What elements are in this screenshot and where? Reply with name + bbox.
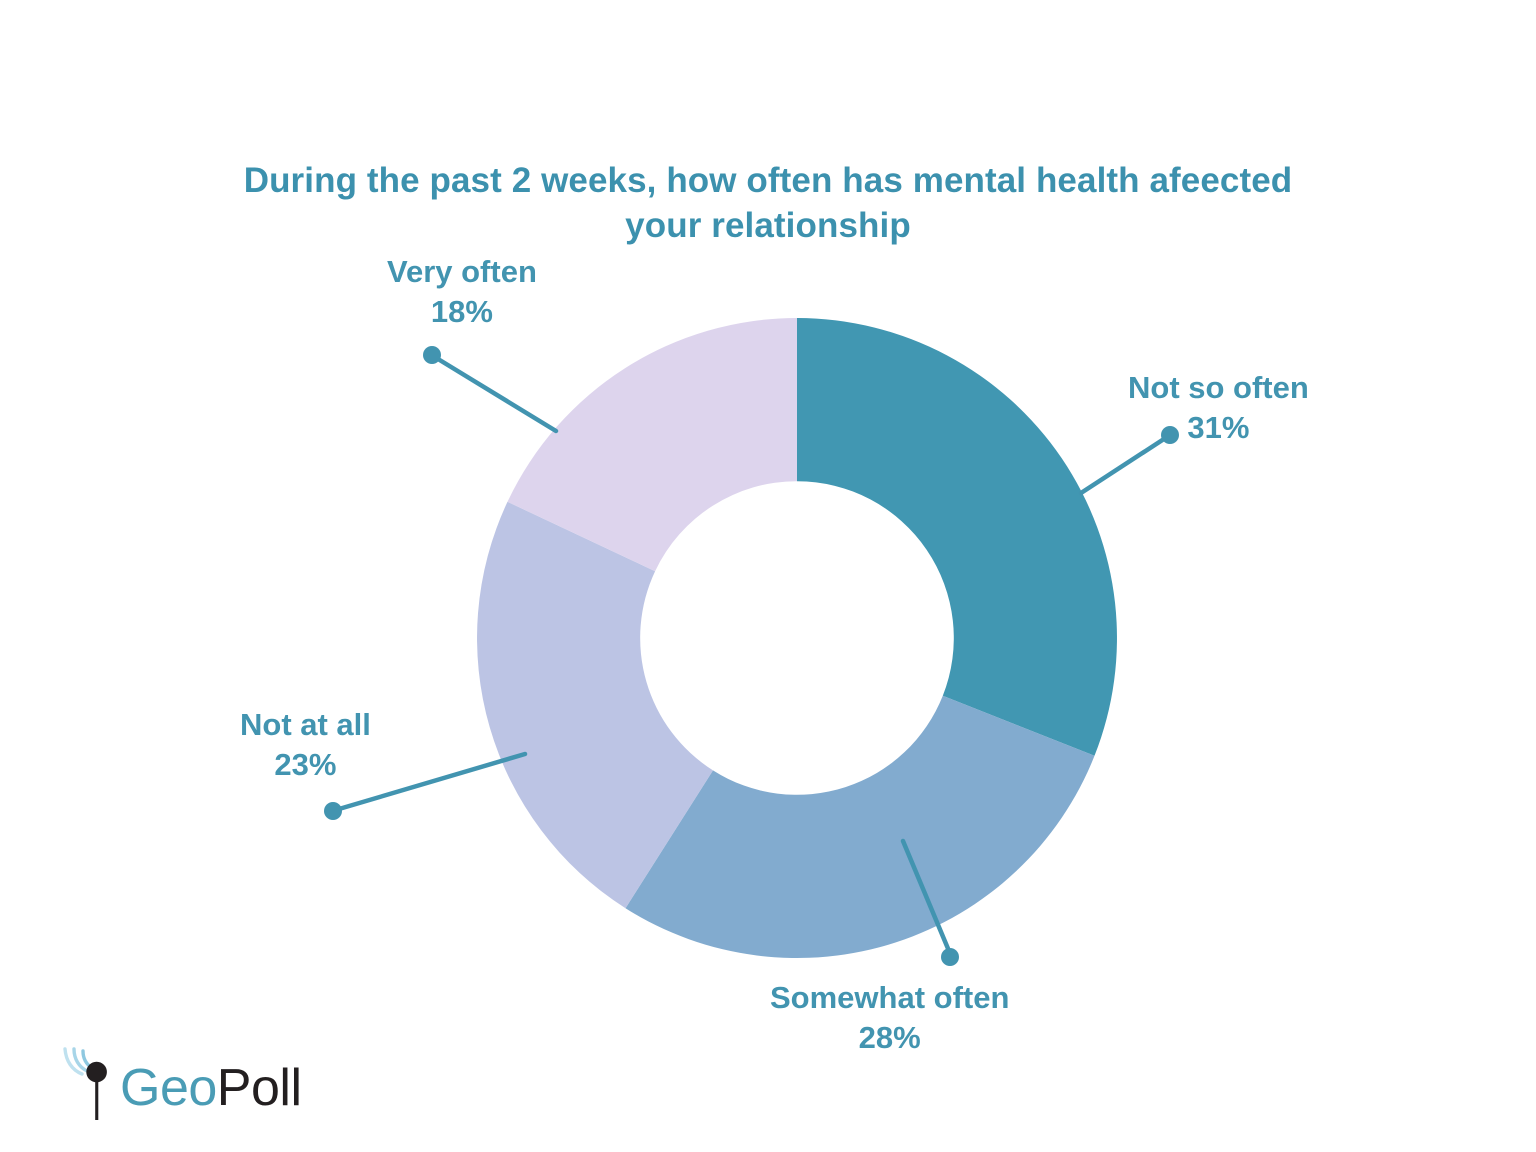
slice-label-somewhat-often-category: Somewhat often bbox=[770, 978, 1009, 1018]
antenna-signal-icon bbox=[62, 1046, 118, 1120]
donut-slice-not-so-often[interactable] bbox=[797, 318, 1117, 756]
geopoll-wordmark-poll: Poll bbox=[217, 1059, 302, 1117]
slice-label-not-so-often-value: 31% bbox=[1128, 408, 1309, 448]
slice-label-not-at-all-value: 23% bbox=[240, 745, 371, 785]
slice-label-very-often-category: Very often bbox=[387, 252, 537, 292]
slice-label-not-at-all: Not at all 23% bbox=[240, 705, 371, 786]
geopoll-logo: GeoPoll bbox=[62, 1040, 302, 1120]
slice-label-very-often: Very often 18% bbox=[387, 252, 537, 333]
slice-label-not-so-often-category: Not so often bbox=[1128, 368, 1309, 408]
slice-label-not-so-often: Not so often 31% bbox=[1128, 368, 1309, 449]
slice-label-not-at-all-category: Not at all bbox=[240, 705, 371, 745]
geopoll-wordmark: GeoPoll bbox=[120, 1062, 302, 1114]
donut-slice-somewhat-often[interactable] bbox=[626, 696, 1095, 958]
donut-chart bbox=[0, 0, 1536, 1152]
slice-label-somewhat-often: Somewhat often 28% bbox=[770, 978, 1009, 1059]
slice-label-very-often-value: 18% bbox=[387, 292, 537, 332]
geopoll-wordmark-geo: Geo bbox=[120, 1059, 217, 1117]
donut-slices bbox=[477, 318, 1117, 958]
slice-label-somewhat-often-value: 28% bbox=[770, 1018, 1009, 1058]
chart-canvas: During the past 2 weeks, how often has m… bbox=[0, 0, 1536, 1152]
leader-very-often bbox=[423, 346, 556, 431]
